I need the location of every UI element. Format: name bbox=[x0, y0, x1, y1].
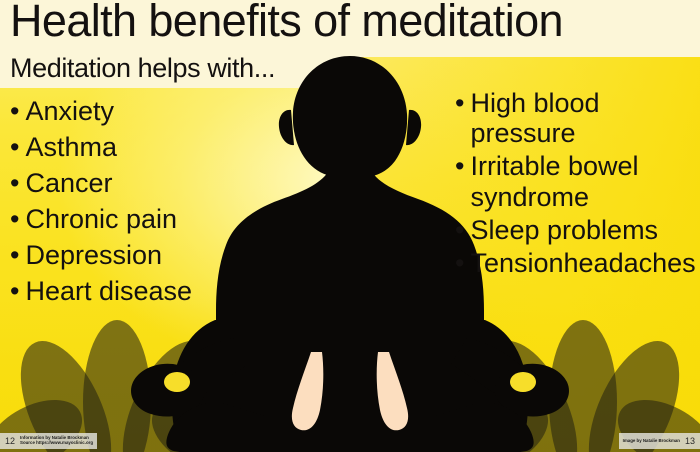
list-item: • Chronic pain bbox=[10, 206, 192, 233]
credit-text-left: Information by Natalie Brockman Source h… bbox=[18, 436, 95, 445]
list-item: • Heart disease bbox=[10, 278, 192, 305]
bullet-dot-icon: • bbox=[455, 88, 470, 118]
benefits-list-left: • Anxiety • Asthma • Cancer • Chronic pa… bbox=[10, 98, 192, 314]
bullet-dot-icon: • bbox=[455, 215, 470, 245]
list-item-label: Depression bbox=[25, 242, 162, 269]
page-number-right: 13 bbox=[682, 436, 698, 446]
footer-credit-right: Image by Natalie Brockman 13 bbox=[619, 433, 700, 449]
list-item-label: Chronic pain bbox=[25, 206, 177, 233]
list-item: • Irritable bowel syndrome bbox=[455, 151, 696, 211]
bullet-dot-icon: • bbox=[10, 170, 25, 197]
bullet-dot-icon: • bbox=[10, 242, 25, 269]
list-item: • Asthma bbox=[10, 134, 192, 161]
bullet-dot-icon: • bbox=[455, 151, 470, 181]
list-item-label: Irritable bowel syndrome bbox=[470, 151, 638, 211]
bullet-dot-icon: • bbox=[10, 98, 25, 125]
list-item-label: Sleep problems bbox=[470, 215, 658, 245]
list-item: • Cancer bbox=[10, 170, 192, 197]
credit-line-1: Image by Natalie Brockman bbox=[623, 439, 680, 444]
list-item: • High blood pressure bbox=[455, 88, 696, 148]
benefits-list-right: • High blood pressure • Irritable bowel … bbox=[455, 88, 696, 281]
list-item-label: Cancer bbox=[25, 170, 112, 197]
list-item-label: Tensionheadaches bbox=[470, 248, 695, 278]
bullet-dot-icon: • bbox=[10, 206, 25, 233]
footer-credit-left: 12 Information by Natalie Brockman Sourc… bbox=[0, 433, 97, 449]
page-subtitle: Meditation helps with... bbox=[10, 55, 275, 82]
page-title: Health benefits of meditation bbox=[10, 0, 563, 43]
list-item-label: High blood pressure bbox=[470, 88, 599, 148]
bullet-dot-icon: • bbox=[10, 134, 25, 161]
slide-canvas: Health benefits of meditation Meditation… bbox=[0, 0, 700, 452]
bullet-dot-icon: • bbox=[455, 248, 470, 278]
credit-text-right: Image by Natalie Brockman bbox=[621, 439, 682, 444]
list-item: • Sleep problems bbox=[455, 215, 696, 245]
bullet-dot-icon: • bbox=[10, 278, 25, 305]
page-number-left: 12 bbox=[2, 436, 18, 446]
list-item: • Tensionheadaches bbox=[455, 248, 696, 278]
list-item-label: Asthma bbox=[25, 134, 117, 161]
list-item: • Depression bbox=[10, 242, 192, 269]
list-item-label: Heart disease bbox=[25, 278, 192, 305]
credit-line-2: Source https://www.mayoclinic.org bbox=[20, 441, 93, 446]
list-item-label: Anxiety bbox=[25, 98, 114, 125]
list-item: • Anxiety bbox=[10, 98, 192, 125]
